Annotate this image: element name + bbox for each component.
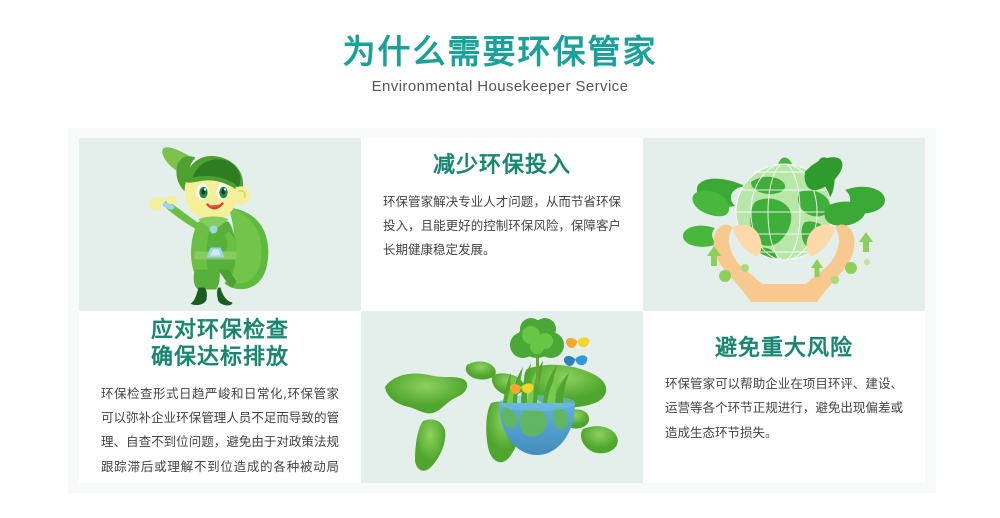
grid-cell-top-left: [79, 138, 361, 311]
feature-grid-band: 减少环保投入 环保管家解决专业人才问题，从而节省环保投入，且能更好的控制环保风险…: [68, 128, 936, 493]
globe-hands-icon: [659, 144, 909, 304]
page-title: 为什么需要环保管家: [343, 0, 658, 70]
green-world-map-earth-bowl-illustration: [361, 311, 643, 484]
grid-cell-bottom-left: 应对环保检查 确保达标排放 环保检查形式日趋严峻和日常化,环保管家可以弥补企业环…: [79, 311, 361, 484]
hands-holding-green-globe-illustration: [643, 138, 925, 311]
green-elf-mascot-illustration: [79, 138, 361, 311]
world-map-earth-icon: [371, 317, 633, 477]
card-body-reduce-investment: 环保管家解决专业人才问题，从而节省环保投入，且能更好的控制环保风险，保障客户长期…: [383, 190, 621, 263]
grid-cell-top-right: [643, 138, 925, 311]
card-title-inspection-line1: 应对环保检查: [151, 317, 289, 345]
card-body-avoid-risk: 环保管家可以帮助企业在项目环评、建设、运营等各个环节正规进行，避免出现偏差或造成…: [665, 372, 903, 445]
butterfly-icon: [566, 337, 589, 348]
card-body-inspection: 环保检查形式日趋严峻和日常化,环保管家可以弥补企业环保管理人员不足而导致的管理、…: [101, 382, 339, 484]
page-root: 为什么需要环保管家 Environmental Housekeeper Serv…: [0, 0, 1000, 518]
butterfly-icon: [564, 355, 587, 366]
card-title-reduce-investment: 减少环保投入: [433, 152, 571, 180]
card-title-avoid-risk: 避免重大风险: [715, 335, 853, 363]
page-subtitle: Environmental Housekeeper Service: [372, 70, 629, 95]
mascot-icon: [133, 142, 308, 307]
grid-cell-bottom-center: [361, 311, 643, 484]
card-title-inspection-line2: 确保达标排放: [151, 344, 289, 372]
page-header: 为什么需要环保管家 Environmental Housekeeper Serv…: [0, 0, 1000, 128]
grid-cell-bottom-right: 避免重大风险 环保管家可以帮助企业在项目环评、建设、运营等各个环节正规进行，避免…: [643, 311, 925, 484]
feature-grid: 减少环保投入 环保管家解决专业人才问题，从而节省环保投入，且能更好的控制环保风险…: [79, 138, 925, 483]
grid-cell-top-center: 减少环保投入 环保管家解决专业人才问题，从而节省环保投入，且能更好的控制环保风险…: [361, 138, 643, 311]
